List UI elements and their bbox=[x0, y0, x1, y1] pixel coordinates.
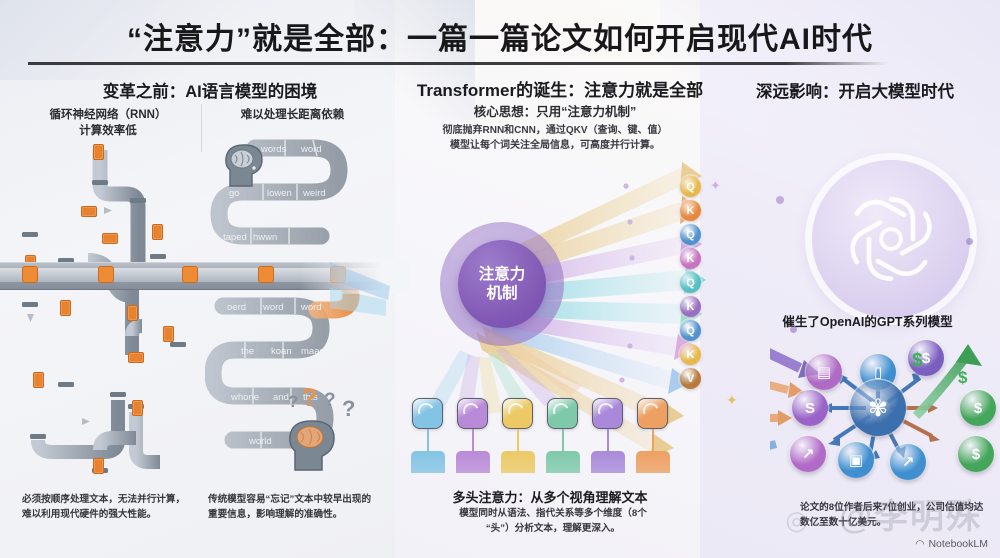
belt-box bbox=[182, 266, 198, 283]
belt-box bbox=[98, 266, 114, 283]
openai-mark-icon bbox=[836, 184, 946, 294]
valve-marker bbox=[128, 352, 144, 363]
valve-marker bbox=[93, 458, 104, 474]
left-column-divider bbox=[201, 104, 202, 152]
notebooklm-icon: ◠ bbox=[915, 538, 924, 550]
belt-box bbox=[258, 266, 274, 283]
valve-marker bbox=[163, 326, 174, 342]
head-box-gloss bbox=[506, 401, 527, 422]
attention-head-stem-3 bbox=[517, 429, 519, 451]
head-box-gloss bbox=[641, 401, 662, 422]
qkv-token-v-8: V bbox=[680, 368, 701, 389]
valve-marker bbox=[132, 400, 143, 416]
caption-forgetting: 传统模型容易“忘记”文本中较早出现的重要信息，影响理解的准确性。 bbox=[208, 492, 380, 522]
attention-head-stem-5 bbox=[607, 429, 609, 451]
attention-head-box-6 bbox=[637, 398, 668, 429]
head-box-gloss bbox=[416, 401, 437, 422]
decorative-dot bbox=[966, 238, 973, 245]
multihead-attention-boxes bbox=[412, 398, 687, 468]
svg-text:the: the bbox=[241, 346, 254, 357]
attention-head-base-4 bbox=[546, 451, 580, 473]
qkv-token-q-0: Q bbox=[680, 176, 701, 197]
section-header-middle: Transformer的诞生：注意力就是全部 bbox=[390, 76, 730, 101]
caption-rnn-sequential: 必须按顺序处理文本，无法并行计算，难以利用现代硬件的强大性能。 bbox=[22, 492, 194, 522]
head-box-gloss bbox=[461, 401, 482, 422]
valve-marker bbox=[93, 144, 104, 160]
caption-multihead-title: 多头注意力：从多个视角理解文本 bbox=[400, 487, 700, 506]
qkv-token-k-7: K bbox=[680, 344, 701, 365]
page-title: “注意力”就是全部：一篇一篇论文如何开启现代AI时代 bbox=[0, 14, 1000, 58]
valve-marker bbox=[33, 372, 44, 388]
qkv-token-q-4: Q bbox=[680, 272, 701, 293]
dollar-sign-icon: $ bbox=[912, 350, 923, 372]
svg-text:koan: koan bbox=[271, 346, 292, 357]
svg-text:word: word bbox=[300, 302, 322, 313]
subheader-core-idea: 核心思想：只用“注意力机制” bbox=[405, 104, 705, 121]
svg-text:taped: taped bbox=[223, 232, 247, 243]
svg-text:weird: weird bbox=[302, 188, 326, 199]
attention-head-base-6 bbox=[636, 451, 670, 473]
belt-box bbox=[22, 266, 38, 283]
valve-marker bbox=[152, 224, 163, 240]
trend-up-icon: ↗ bbox=[790, 436, 826, 472]
svg-text:whone: whone bbox=[230, 392, 259, 403]
svg-text:oerd: oerd bbox=[227, 302, 246, 313]
attention-head-stem-2 bbox=[472, 429, 474, 451]
section-header-right: 深远影响：开启大模型时代 bbox=[720, 78, 990, 102]
svg-text:lowen: lowen bbox=[267, 188, 292, 199]
valve-marker bbox=[60, 300, 71, 316]
svg-text:and: and bbox=[273, 392, 289, 403]
head-box-gloss bbox=[596, 401, 617, 422]
spiral-logo-icon: S bbox=[792, 390, 828, 426]
attention-head-stem-6 bbox=[652, 429, 654, 451]
watermark-author: @李明殊 bbox=[839, 489, 982, 538]
attention-head-box-1 bbox=[412, 398, 443, 429]
svg-text:word: word bbox=[300, 144, 322, 155]
attention-head-box-2 bbox=[457, 398, 488, 429]
attention-head-stem-4 bbox=[562, 429, 564, 451]
svg-text:go: go bbox=[229, 188, 240, 199]
valve-marker bbox=[102, 233, 118, 244]
qkv-token-column: QKQKQKQKV bbox=[680, 176, 708, 386]
question-mark-small-left: ? bbox=[288, 392, 298, 412]
head-brain-icon bbox=[218, 140, 266, 188]
valve-marker bbox=[127, 305, 138, 321]
impact-node-group: ▤$▯S✾$↗▣↗$ bbox=[770, 332, 1000, 492]
head-box-gloss bbox=[551, 401, 572, 422]
attention-rays-illustration bbox=[330, 140, 730, 540]
sparkle-icon: ✦ bbox=[710, 178, 721, 194]
search-doc-icon: ▣ bbox=[838, 442, 874, 478]
caption-multihead-body: 模型同时从语法、指代关系等多个维度（8个 “头”）分析文本，理解更深入。 bbox=[408, 506, 698, 536]
attention-head-base-1 bbox=[411, 451, 445, 473]
svg-text:maada: maada bbox=[301, 346, 331, 357]
qkv-token-k-1: K bbox=[680, 200, 701, 221]
qkv-token-q-2: Q bbox=[680, 224, 701, 245]
pipe-valve-group bbox=[8, 150, 208, 485]
infographic-canvas: “注意力”就是全部：一篇一篇论文如何开启现代AI时代 变革之前：AI语言模型的困… bbox=[0, 0, 1000, 558]
notebooklm-label: NotebookLM bbox=[928, 538, 988, 550]
openai-logo-large bbox=[812, 160, 970, 318]
dollar-coin-icon-2: $ bbox=[958, 436, 994, 472]
qkv-token-k-3: K bbox=[680, 248, 701, 269]
dollar-sign-icon: $ bbox=[958, 368, 967, 388]
attention-head-box-5 bbox=[592, 398, 623, 429]
attention-hub-label: 注意力 机制 bbox=[479, 265, 526, 304]
svg-text:world: world bbox=[248, 436, 272, 447]
question-mark-large: ? bbox=[302, 384, 317, 413]
watermark-weibo-icon: ◎ bbox=[785, 505, 808, 536]
attention-head-box-3 bbox=[502, 398, 533, 429]
openai-center-icon: ✾ bbox=[850, 380, 906, 436]
subheader-rnn: 循环神经网络（RNN） 计算效率低 bbox=[18, 108, 198, 139]
sparkle-icon: ✦ bbox=[726, 392, 738, 409]
attention-head-box-4 bbox=[547, 398, 578, 429]
svg-text:hwwn: hwwn bbox=[253, 232, 277, 243]
title-underline bbox=[28, 62, 888, 65]
line-chart-icon: ↗ bbox=[890, 444, 926, 480]
document-icon: ▤ bbox=[806, 354, 842, 390]
attention-head-base-3 bbox=[501, 451, 535, 473]
openai-gpt-label: 催生了OpenAI的GPT系列模型 bbox=[745, 311, 990, 330]
dollar-coin-icon: $ bbox=[960, 390, 996, 426]
svg-text:word: word bbox=[262, 302, 284, 313]
attention-head-stem-1 bbox=[427, 429, 429, 451]
section-header-left: 变革之前：AI语言模型的困境 bbox=[20, 78, 400, 102]
qkv-token-q-6: Q bbox=[680, 320, 701, 341]
valve-marker bbox=[81, 206, 97, 217]
qkv-token-k-5: K bbox=[680, 296, 701, 317]
attention-head-base-5 bbox=[591, 451, 625, 473]
attention-head-base-2 bbox=[456, 451, 490, 473]
attention-hub: 注意力 机制 bbox=[458, 240, 546, 328]
notebooklm-brand: ◠ NotebookLM bbox=[915, 538, 988, 550]
subheader-longrange: 难以处理长距离依赖 bbox=[205, 108, 380, 124]
decorative-dot bbox=[776, 196, 784, 204]
